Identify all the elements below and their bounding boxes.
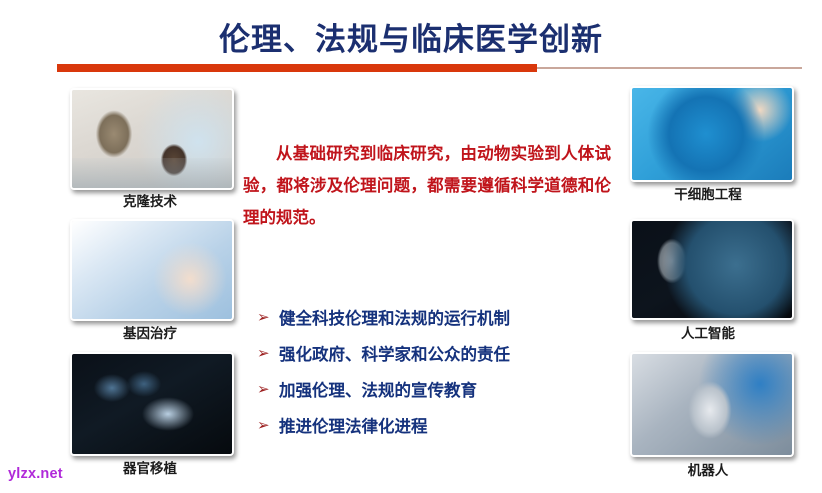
list-item: ➢ 健全科技伦理和法规的运行机制 bbox=[257, 299, 607, 335]
arrow-bullet-icon: ➢ bbox=[257, 382, 279, 397]
image-caption-artificial-intelligence: 人工智能 bbox=[626, 322, 790, 342]
dna-helix-photo bbox=[72, 221, 232, 319]
surgery-photo bbox=[72, 354, 232, 454]
image-caption-robots: 机器人 bbox=[626, 459, 790, 479]
slide-root: 伦理、法规与临床医学创新 克隆技术 基因治疗 器官移植 干细胞工程 人工智能 机… bbox=[0, 0, 822, 493]
image-card-robots bbox=[630, 352, 794, 457]
list-item: ➢ 加强伦理、法规的宣传教育 bbox=[257, 371, 607, 407]
image-caption-stem-cell: 干细胞工程 bbox=[626, 183, 790, 203]
highlight-paragraph: 从基础研究到临床研究，由动物实验到人体试验，都将涉及伦理问题，都需要遵循科学道德… bbox=[243, 138, 611, 234]
humanoid-robots-photo bbox=[632, 354, 792, 455]
image-caption-gene-therapy: 基因治疗 bbox=[68, 322, 232, 342]
stem-cell-photo bbox=[632, 88, 792, 180]
arrow-bullet-icon: ➢ bbox=[257, 346, 279, 361]
list-item: ➢ 强化政府、科学家和公众的责任 bbox=[257, 335, 607, 371]
image-caption-cloning: 克隆技术 bbox=[68, 190, 232, 210]
title-divider bbox=[57, 64, 802, 72]
image-card-artificial-intelligence bbox=[630, 219, 794, 320]
site-watermark: ylzx.net bbox=[8, 466, 63, 482]
list-item-label: 强化政府、科学家和公众的责任 bbox=[279, 341, 510, 365]
page-title: 伦理、法规与临床医学创新 bbox=[0, 14, 822, 59]
bullet-list: ➢ 健全科技伦理和法规的运行机制 ➢ 强化政府、科学家和公众的责任 ➢ 加强伦理… bbox=[257, 299, 607, 443]
arrow-bullet-icon: ➢ bbox=[257, 310, 279, 325]
image-card-organ-transplant bbox=[70, 352, 234, 456]
cloned-monkeys-photo bbox=[72, 90, 232, 188]
title-divider-accent-bar bbox=[57, 64, 537, 72]
list-item: ➢ 推进伦理法律化进程 bbox=[257, 407, 607, 443]
image-card-gene-therapy bbox=[70, 219, 234, 321]
arrow-bullet-icon: ➢ bbox=[257, 418, 279, 433]
image-caption-organ-transplant: 器官移植 bbox=[68, 457, 232, 477]
image-card-cloning bbox=[70, 88, 234, 190]
robot-globe-photo bbox=[632, 221, 792, 318]
list-item-label: 健全科技伦理和法规的运行机制 bbox=[279, 305, 510, 329]
image-card-stem-cell bbox=[630, 86, 794, 182]
list-item-label: 推进伦理法律化进程 bbox=[279, 413, 428, 437]
list-item-label: 加强伦理、法规的宣传教育 bbox=[279, 377, 477, 401]
